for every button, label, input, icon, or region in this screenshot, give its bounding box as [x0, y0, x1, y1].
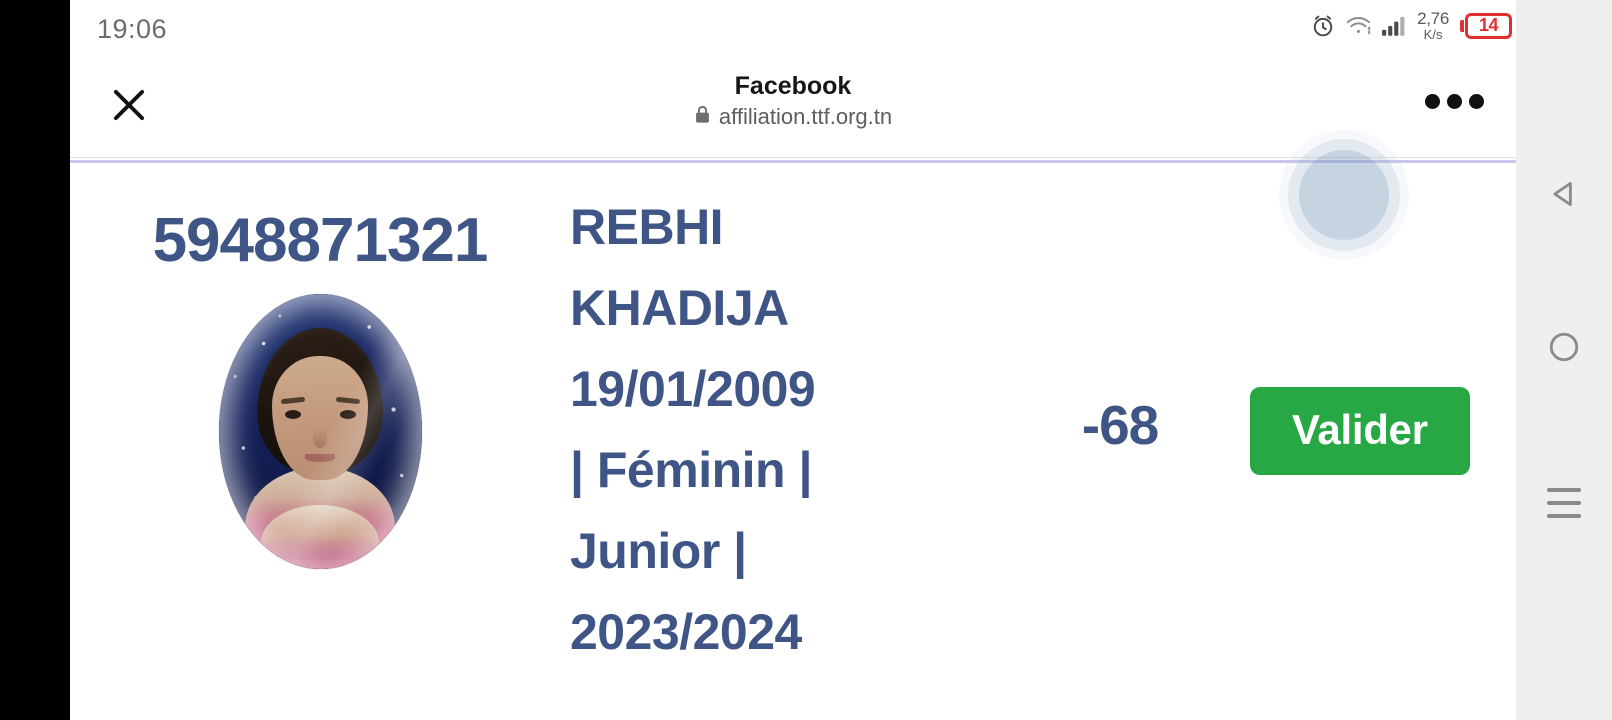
- photo-eye-right: [340, 410, 356, 419]
- status-clock: 19:06: [97, 14, 167, 45]
- wifi-icon: [1345, 14, 1372, 38]
- status-bar: 19:06: [70, 0, 1516, 58]
- member-season: 2023/2024: [570, 592, 990, 673]
- weight-category: -68: [1082, 393, 1159, 457]
- phone-screen: 19:06: [70, 0, 1516, 720]
- page-load-progress: [70, 158, 1516, 165]
- member-photo: [219, 294, 422, 569]
- photo-eye-left: [285, 410, 301, 419]
- photo-nose: [313, 428, 327, 448]
- member-record-row: 5948871321: [70, 165, 1516, 720]
- member-identity-column: 5948871321: [70, 165, 570, 569]
- member-firstname: KHADIJA: [570, 268, 990, 349]
- network-speed-unit: K/s: [1424, 28, 1443, 41]
- back-triangle-icon: [1547, 177, 1581, 216]
- weight-category-column: -68: [990, 165, 1250, 457]
- recents-menu-icon: [1547, 488, 1581, 518]
- browser-title-block: Facebook affiliation.ttf.org.tn: [70, 72, 1516, 130]
- nav-recents-button[interactable]: [1533, 472, 1595, 534]
- battery-level-text: 14: [1465, 13, 1512, 39]
- status-icons: 2,76 K/s 14: [1310, 10, 1512, 41]
- signal-icon: [1381, 14, 1407, 38]
- nav-home-button[interactable]: [1533, 319, 1595, 381]
- web-page-content: 5948871321: [70, 165, 1516, 720]
- member-details-column: REBHI KHADIJA 19/01/2009 | Féminin | Jun…: [570, 165, 990, 673]
- licence-number: 5948871321: [153, 210, 488, 272]
- overflow-menu-icon-dot2: [1447, 94, 1462, 109]
- member-category: Junior |: [570, 511, 990, 592]
- battery-terminal: [1460, 20, 1464, 32]
- home-circle-icon: [1547, 330, 1581, 369]
- member-gender: | Féminin |: [570, 430, 990, 511]
- battery-icon: 14: [1460, 13, 1512, 39]
- lock-icon: [694, 105, 711, 129]
- url-text: affiliation.ttf.org.tn: [719, 104, 892, 130]
- device-screenshot: 19:06: [0, 0, 1612, 720]
- member-lastname: REBHI: [570, 187, 990, 268]
- overflow-menu-icon-dot3: [1469, 94, 1484, 109]
- action-column: Valider: [1250, 165, 1516, 475]
- network-speed-value: 2,76: [1417, 10, 1449, 27]
- progress-line: [70, 160, 1516, 163]
- overflow-menu-icon: [1425, 94, 1440, 109]
- member-birthdate: 19/01/2009: [570, 349, 990, 430]
- network-speed: 2,76 K/s: [1417, 10, 1449, 41]
- left-bezel: [0, 0, 70, 720]
- android-navigation-bar: [1516, 0, 1612, 720]
- browser-header: Facebook affiliation.ttf.org.tn: [70, 58, 1516, 158]
- nav-back-button[interactable]: [1533, 166, 1595, 228]
- alarm-icon: [1310, 13, 1336, 39]
- page-title: Facebook: [735, 72, 852, 101]
- overflow-menu-button[interactable]: [1421, 84, 1488, 119]
- validate-button[interactable]: Valider: [1250, 387, 1470, 475]
- url-row[interactable]: affiliation.ttf.org.tn: [694, 104, 892, 130]
- photo-mouth: [305, 454, 335, 462]
